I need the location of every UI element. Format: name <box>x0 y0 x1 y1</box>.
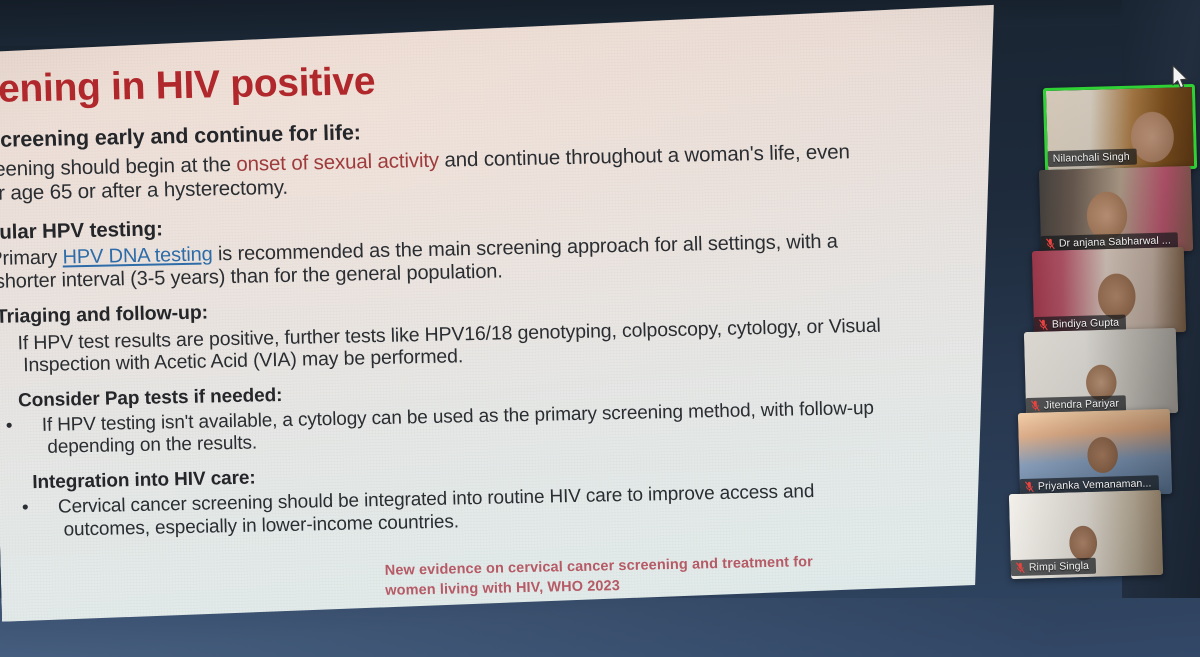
participant-name: Jitendra Pariyar <box>1044 398 1119 412</box>
participant-name: Bindiya Gupta <box>1052 317 1120 331</box>
mic-muted-icon <box>1016 562 1025 574</box>
screenshot-stage: reening in HIV positive rt screening ear… <box>0 0 1200 657</box>
bullet-icon: • <box>42 497 59 519</box>
participant-name: Rimpi Singla <box>1029 560 1089 574</box>
participant-filmstrip: Nilanchali Singh Dr anjana Sabharwal ... <box>1000 86 1196 606</box>
mic-muted-icon <box>1025 481 1034 493</box>
participant-tile-priyanka-vemanaman[interactable]: Priyanka Vemanaman... <box>1018 409 1172 498</box>
slide-title: reening in HIV positive <box>0 52 878 112</box>
accent-onset-of-sexual-activity: onset of sexual activity <box>236 149 439 176</box>
participant-tile-jitendra-pariyar[interactable]: Jitendra Pariyar <box>1024 328 1178 417</box>
slide-content: reening in HIV positive rt screening ear… <box>0 1 1010 622</box>
text-prefix: Primary <box>0 246 63 270</box>
link-hpv-dna-testing[interactable]: HPV DNA testing <box>62 243 213 268</box>
bullet-icon: • <box>26 415 43 437</box>
participant-tile-dr-anjana-sabharwal[interactable]: Dr anjana Sabharwal ... <box>1039 166 1193 255</box>
mic-muted-icon <box>1031 400 1040 412</box>
mic-muted-icon <box>1039 319 1048 331</box>
participant-tile-rimpi-singla[interactable]: Rimpi Singla <box>1009 490 1163 579</box>
bullet-icon: • <box>1 332 18 355</box>
projected-slide: reening in HIV positive rt screening ear… <box>0 1 1010 622</box>
participant-tile-bindiya-gupta[interactable]: Bindiya Gupta <box>1032 247 1186 336</box>
participant-tile-nilanchali-singh[interactable]: Nilanchali Singh <box>1043 84 1197 173</box>
participant-name: Nilanchali Singh <box>1053 151 1130 165</box>
participant-name-badge: Rimpi Singla <box>1011 558 1097 576</box>
mouse-pointer-icon <box>1171 64 1191 92</box>
participant-name-badge: Nilanchali Singh <box>1048 149 1137 167</box>
mic-muted-icon <box>1046 238 1055 250</box>
